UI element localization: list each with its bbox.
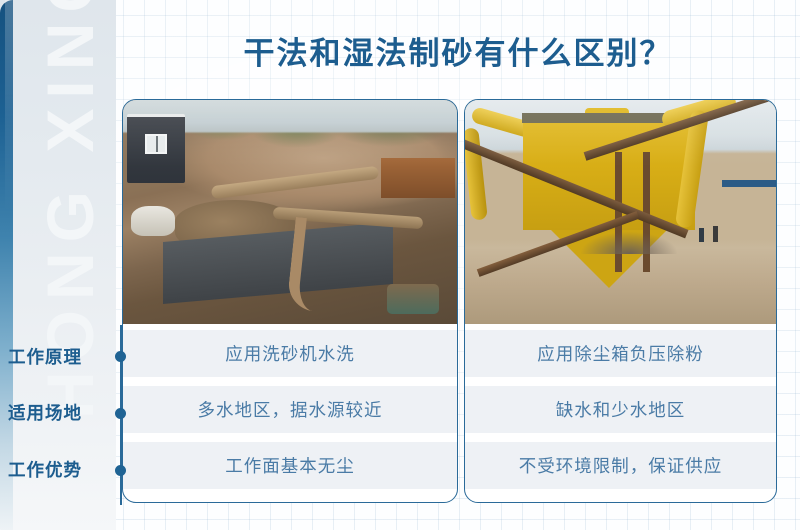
criteria-label-column: 工作原理 适用场地 工作优势: [0, 325, 122, 505]
rows-wet: 应用洗砂机水洗 多水地区，据水源较近 工作面基本无尘: [123, 326, 457, 502]
mud-pipe-shape-1: [211, 166, 379, 199]
photo-dry-dust-collector: [465, 100, 776, 324]
timeline-dot-1: [115, 351, 126, 362]
row-principle-wet: 应用洗砂机水洗: [123, 330, 457, 377]
row-advantage-dry: 不受环境限制，保证供应: [465, 442, 776, 489]
worker-figure-1: [713, 226, 718, 242]
criteria-label-principle: 工作原理: [8, 333, 100, 380]
page-title: 干法和湿法制砂有什么区别？: [116, 28, 800, 73]
motor-shape: [387, 284, 439, 314]
comparison-card-wet: 应用洗砂机水洗 多水地区，据水源较近 工作面基本无尘: [122, 99, 458, 503]
criteria-label-advantage: 工作优势: [8, 446, 100, 493]
site-cabin-shape: [127, 114, 185, 183]
photo-wet-sand-washing: [123, 100, 457, 324]
orange-machine-shape: [381, 158, 455, 198]
row-principle-dry: 应用除尘箱负压除粉: [465, 330, 776, 377]
criteria-label-site: 适用场地: [8, 389, 100, 436]
worker-figure-2: [699, 228, 704, 242]
row-advantage-wet: 工作面基本无尘: [123, 442, 457, 489]
sand-pile-shape: [581, 232, 677, 254]
site-shed-shape: [722, 186, 776, 262]
timeline-dot-3: [115, 465, 126, 476]
row-site-dry: 缺水和少水地区: [465, 386, 776, 433]
timeline-dot-2: [115, 408, 126, 419]
site-bag-shape: [131, 206, 175, 236]
row-site-wet: 多水地区，据水源较近: [123, 386, 457, 433]
infographic-canvas: HONG XING 干法和湿法制砂有什么区别？ 应用洗砂机水洗 多水地区，据水源…: [0, 0, 800, 530]
rows-dry: 应用除尘箱负压除粉 缺水和少水地区 不受环境限制，保证供应: [465, 326, 776, 502]
comparison-card-dry: 应用除尘箱负压除粉 缺水和少水地区 不受环境限制，保证供应: [464, 99, 777, 503]
